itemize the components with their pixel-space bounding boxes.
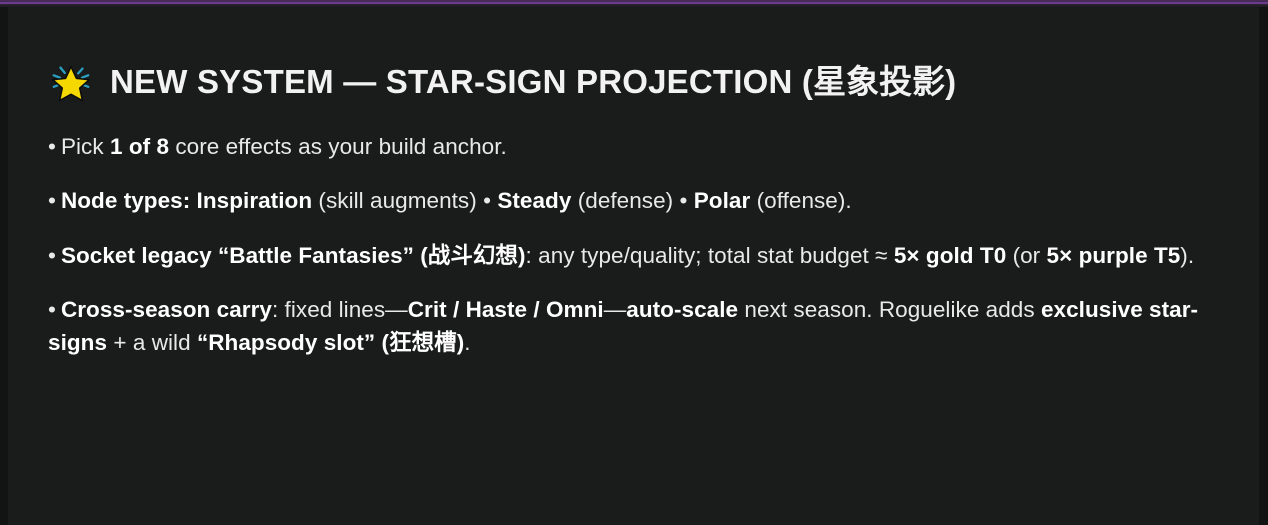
bullet-emphasis: Cross-season carry	[61, 297, 272, 322]
bullet-text: (or	[1006, 243, 1046, 268]
bullet-text: : fixed lines—	[272, 297, 408, 322]
bullet-emphasis: “Rhapsody slot” (狂想槽)	[197, 330, 464, 355]
bullet-emphasis: 5× purple T5	[1047, 243, 1181, 268]
page-title-en: NEW SYSTEM — STAR-SIGN PROJECTION (	[110, 63, 813, 100]
right-edge-strip	[1259, 7, 1268, 525]
bullet-text: next season. Roguelike adds	[738, 297, 1041, 322]
page-title-text: NEW SYSTEM — STAR-SIGN PROJECTION (星象投影)	[110, 64, 956, 100]
bullet-text: —	[604, 297, 627, 322]
slide-content: NEW SYSTEM — STAR-SIGN PROJECTION (星象投影)…	[8, 7, 1259, 525]
bullet-marker: •	[48, 243, 56, 268]
bullet-emphasis: Steady	[497, 188, 571, 213]
bullet-emphasis: auto-scale	[626, 297, 738, 322]
bullet-marker: •	[48, 134, 56, 159]
bullet-emphasis: Crit / Haste / Omni	[408, 297, 604, 322]
bullet-text: + a wild	[107, 330, 197, 355]
bullet-marker: •	[48, 297, 56, 322]
bullet-item: •Node types: Inspiration (skill augments…	[48, 185, 1237, 217]
bullet-emphasis: Socket legacy “Battle Fantasies” (战斗幻想)	[61, 243, 526, 268]
top-accent-line	[0, 2, 1268, 4]
left-edge-strip	[0, 7, 8, 525]
bullet-text: (offense).	[750, 188, 851, 213]
bullet-item: •Cross-season carry: fixed lines—Crit / …	[48, 294, 1237, 359]
page-title-cjk: 星象投影	[813, 63, 945, 100]
glowing-star-icon	[48, 59, 94, 105]
page-title-close: )	[945, 63, 956, 100]
bullet-text: : any type/quality; total stat budget ≈	[526, 243, 894, 268]
bullet-text: (skill augments) •	[312, 188, 497, 213]
bullet-text: Pick	[61, 134, 110, 159]
bullet-emphasis: Polar	[694, 188, 751, 213]
bullet-item: •Socket legacy “Battle Fantasies” (战斗幻想)…	[48, 240, 1237, 272]
bullet-emphasis: Node types: Inspiration	[61, 188, 312, 213]
bullet-emphasis: 1 of 8	[110, 134, 169, 159]
bullet-text: core effects as your build anchor.	[169, 134, 507, 159]
bullet-list: •Pick 1 of 8 core effects as your build …	[48, 131, 1237, 359]
bullet-emphasis: 5× gold T0	[894, 243, 1006, 268]
bullet-text: (defense) •	[571, 188, 693, 213]
bullet-item: •Pick 1 of 8 core effects as your build …	[48, 131, 1237, 163]
bullet-text: ).	[1180, 243, 1194, 268]
slide-canvas: NEW SYSTEM — STAR-SIGN PROJECTION (星象投影)…	[0, 0, 1268, 525]
bullet-text: .	[464, 330, 470, 355]
page-title: NEW SYSTEM — STAR-SIGN PROJECTION (星象投影)	[48, 59, 1237, 105]
bullet-marker: •	[48, 188, 56, 213]
